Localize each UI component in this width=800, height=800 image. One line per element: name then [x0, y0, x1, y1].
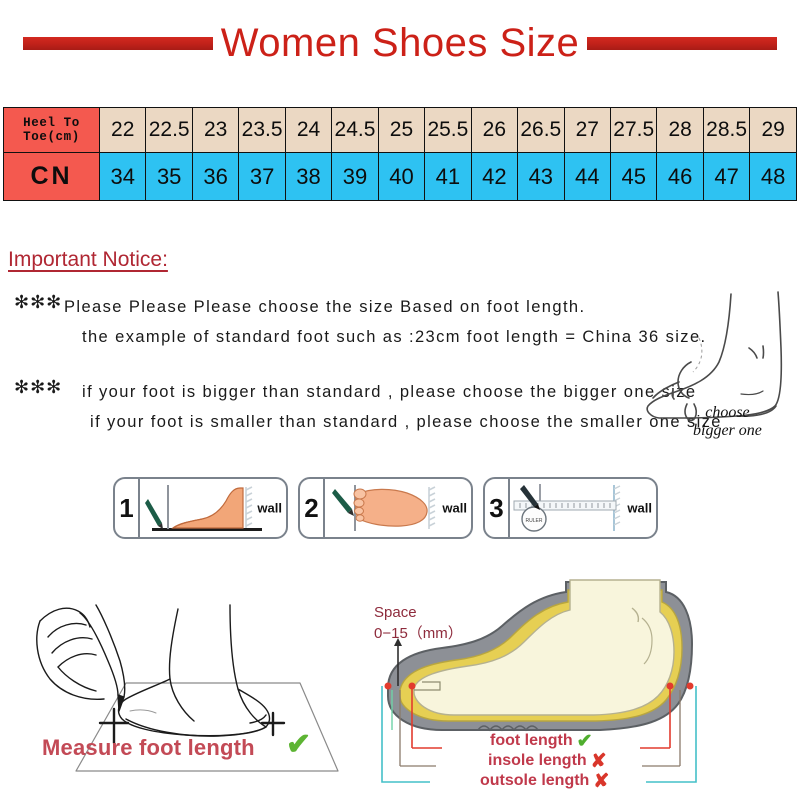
title-bar-right: [587, 37, 777, 50]
cell-cm: 26.5: [518, 108, 564, 153]
cell-cm: 28: [657, 108, 703, 153]
space-label-line-1: Space: [374, 602, 463, 623]
step-panel-1: 1: [113, 477, 288, 539]
wall-label: wall: [442, 501, 467, 516]
measurement-row-outsole-length: outsole length ✘: [480, 771, 780, 791]
space-label-line-2: 0−15（mm）: [374, 623, 463, 644]
measurement-label: outsole length: [480, 772, 589, 790]
cell-cn: 45: [610, 153, 656, 201]
measurement-row-foot-length: foot length ✔: [480, 731, 780, 751]
table-row-cn: CN 34 35 36 37 38 39 40 41 42 43 44 45 4…: [4, 153, 797, 201]
cell-cn: 40: [378, 153, 424, 201]
measurement-label: foot length: [490, 732, 573, 750]
measure-foot-panel: Measure foot length ✔: [18, 575, 368, 795]
shoe-measurement-labels: foot length ✔ insole length ✘ outsole le…: [480, 731, 780, 791]
notice-heading: Important Notice:: [8, 248, 168, 272]
cell-cm: 27: [564, 108, 610, 153]
page-title: Women Shoes Size: [213, 23, 588, 63]
caption-line-2: bigger one: [693, 422, 762, 440]
wall-label: wall: [627, 501, 652, 516]
cell-cm: 23: [192, 108, 238, 153]
cell-cn: 43: [518, 153, 564, 201]
cell-cm: 22: [100, 108, 146, 153]
row-label-heel-to-toe: Heel To Toe(cm): [4, 108, 100, 153]
cell-cm: 26: [471, 108, 517, 153]
step-panel-3: 3: [483, 477, 658, 539]
cell-cn: 47: [703, 153, 749, 201]
cell-cm: 28.5: [703, 108, 749, 153]
cross-mark-icon: ✘: [593, 770, 609, 793]
cell-cm: 25: [378, 108, 424, 153]
notice-line: if your foot is smaller than standard , …: [64, 407, 722, 437]
cell-cm: 27.5: [610, 108, 656, 153]
notice-line: the example of standard foot such as :23…: [64, 322, 707, 352]
step-3-illustration: RULER wall: [510, 479, 656, 537]
cell-cn: 46: [657, 153, 703, 201]
cell-cm: 29: [750, 108, 797, 153]
cell-cn: 34: [100, 153, 146, 201]
cell-cn: 41: [425, 153, 471, 201]
space-label: Space 0−15（mm）: [374, 602, 463, 644]
cell-cm: 23.5: [239, 108, 285, 153]
foot-side-sketch: choose bigger one: [645, 286, 800, 461]
cell-cn: 36: [192, 153, 238, 201]
caption-line-1: choose: [693, 404, 762, 422]
cell-cn: 39: [332, 153, 378, 201]
step-2-illustration: wall: [325, 479, 471, 537]
cell-cm: 25.5: [425, 108, 471, 153]
notice-line: Please Please Please choose the size Bas…: [64, 292, 707, 322]
cell-cm: 22.5: [146, 108, 192, 153]
notice-block-1: ✻✻✻ Please Please Please choose the size…: [10, 292, 707, 352]
shoe-cross-section-panel: Space 0−15（mm） foot length ✔ insole leng…: [370, 578, 800, 800]
measure-foot-caption: Measure foot length: [42, 735, 255, 761]
check-mark-icon: ✔: [286, 727, 311, 762]
svg-text:RULER: RULER: [526, 518, 543, 524]
pencil-icon: [145, 499, 163, 529]
step-number: 3: [485, 479, 510, 537]
step-number: 1: [115, 479, 140, 537]
step-number: 2: [300, 479, 325, 537]
size-chart-page: Women Shoes Size Heel To Toe(cm) 22 22.5…: [0, 0, 800, 800]
foot-sketch-caption: choose bigger one: [693, 404, 762, 440]
cell-cn: 37: [239, 153, 285, 201]
notice-block-2: ✻✻✻ if your foot is bigger than standard…: [10, 377, 722, 437]
measurement-row-insole-length: insole length ✘: [480, 751, 780, 771]
notice-stars: ✻✻✻: [14, 377, 62, 398]
table-row-heel-to-toe: Heel To Toe(cm) 22 22.5 23 23.5 24 24.5 …: [4, 108, 797, 153]
measurement-label: insole length: [488, 752, 587, 770]
notice-line: if your foot is bigger than standard , p…: [64, 377, 722, 407]
step-1-illustration: wall: [140, 479, 286, 537]
page-title-row: Women Shoes Size: [0, 18, 800, 68]
size-conversion-table: Heel To Toe(cm) 22 22.5 23 23.5 24 24.5 …: [3, 107, 797, 201]
row-label-cn: CN: [4, 153, 100, 201]
measuring-steps: 1: [113, 477, 658, 539]
pencil-icon: [332, 489, 354, 516]
cell-cn: 48: [750, 153, 797, 201]
cell-cn: 35: [146, 153, 192, 201]
notice-stars: ✻✻✻: [14, 292, 62, 313]
wall-label: wall: [257, 501, 282, 516]
title-bar-left: [23, 37, 213, 50]
cell-cn: 44: [564, 153, 610, 201]
cell-cn: 42: [471, 153, 517, 201]
step-panel-2: 2: [298, 477, 473, 539]
cell-cn: 38: [285, 153, 331, 201]
cell-cm: 24: [285, 108, 331, 153]
cell-cm: 24.5: [332, 108, 378, 153]
hand-marking-foot-illustration: [18, 575, 368, 795]
